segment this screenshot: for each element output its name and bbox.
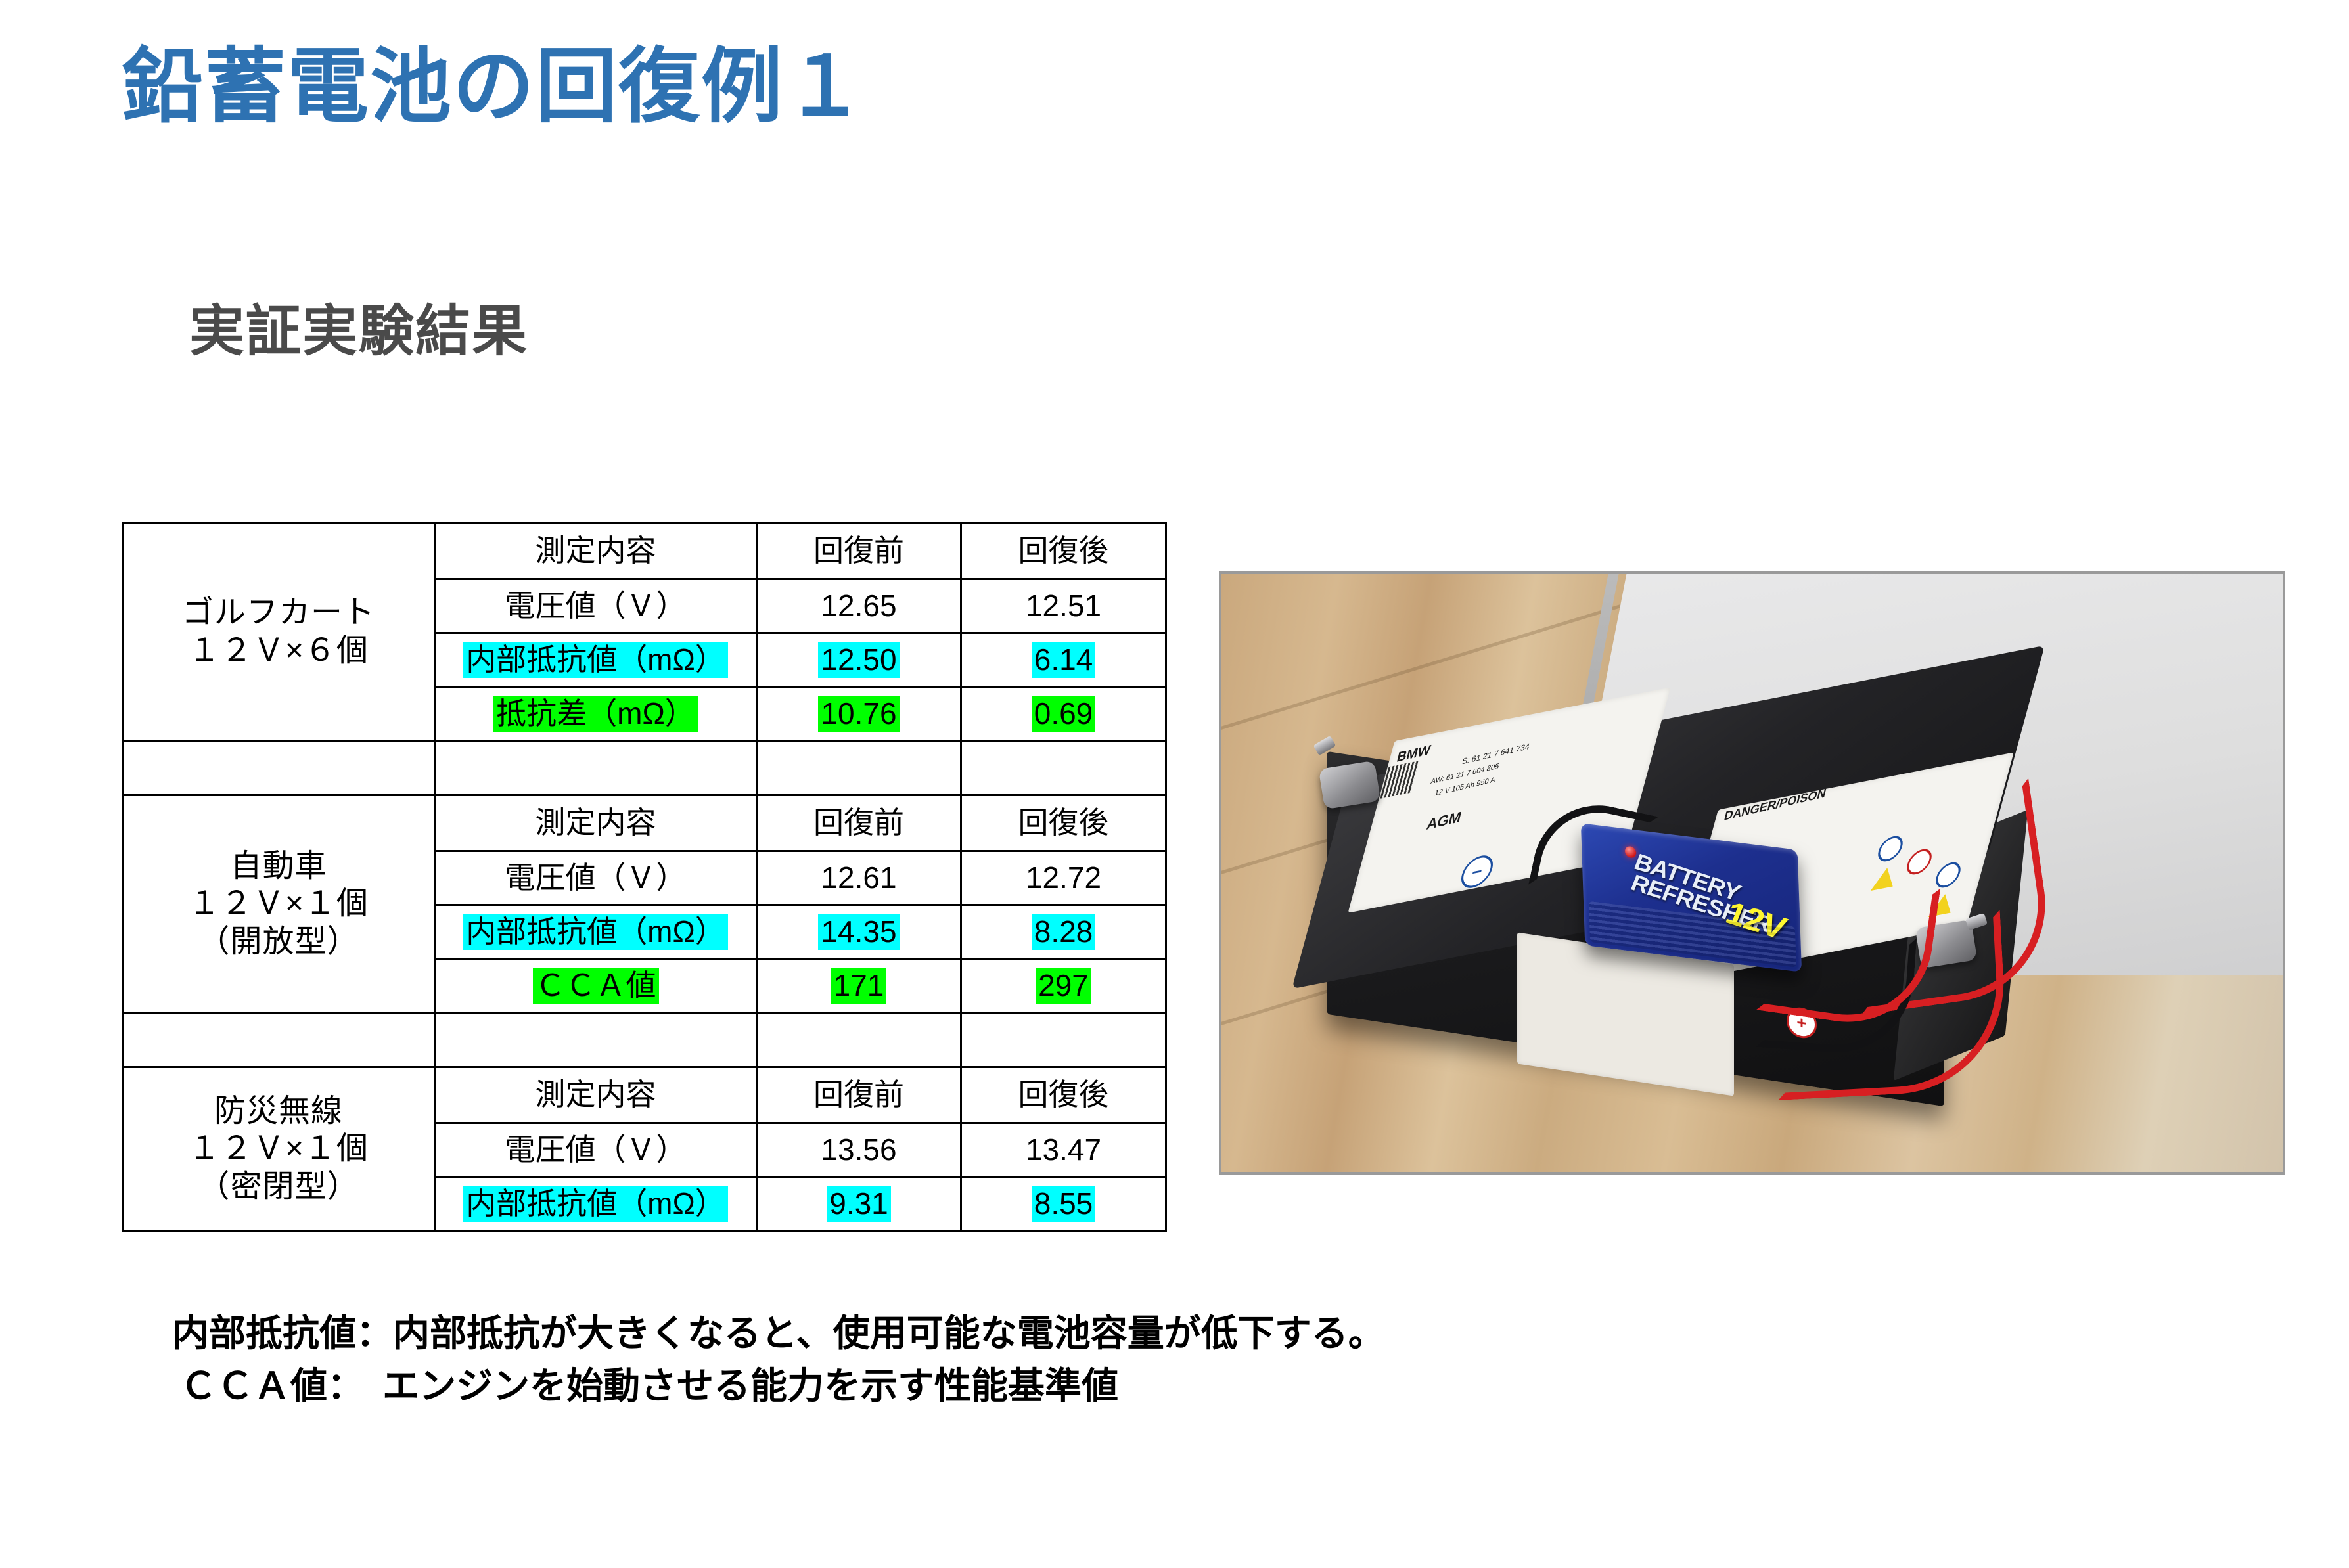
- measure-pre: 171: [757, 959, 961, 1013]
- category-cell-3: 防災無線 １２Ｖ×１個 （密閉型）: [123, 1067, 435, 1231]
- measure-post: 8.28: [961, 905, 1166, 959]
- category-line: （開放型）: [124, 923, 434, 961]
- measure-post: 297: [961, 959, 1166, 1013]
- measure-item: 電圧値（Ｖ）: [435, 1123, 757, 1177]
- measure-post: 12.51: [961, 579, 1166, 633]
- category-line: １２Ｖ×１個: [124, 1130, 434, 1168]
- measure-item: ＣＣＡ値: [435, 959, 757, 1013]
- category-line: （密閉型）: [124, 1168, 434, 1206]
- column-header-item: 測定内容: [435, 795, 757, 851]
- footnotes: 内部抵抗値：内部抵抗が大きくなると、使用可能な電池容量が低下する。 ＣＣＡ値： …: [172, 1307, 1385, 1412]
- table-row: 自動車 １２Ｖ×１個 （開放型） 測定内容 回復前 回復後: [123, 795, 1166, 851]
- measure-pre: 14.35: [757, 905, 961, 959]
- category-cell-2: 自動車 １２Ｖ×１個 （開放型）: [123, 795, 435, 1013]
- measure-post: 6.14: [961, 633, 1166, 687]
- measure-post: 12.72: [961, 851, 1166, 905]
- spacer-cell: [757, 741, 961, 795]
- category-line: 防災無線: [124, 1092, 434, 1131]
- category-line: １２Ｖ×１個: [124, 885, 434, 923]
- lead-acid-battery: BMW S: 61 21 7 641 734 AW: 61 21 7 604 8…: [1300, 640, 2076, 1100]
- section-heading: 実証実験結果: [189, 297, 528, 366]
- column-header-pre: 回復前: [757, 1067, 961, 1123]
- spacer-cell: [435, 741, 757, 795]
- measure-item: 内部抵抗値（mΩ）: [435, 905, 757, 959]
- category-line: 自動車: [124, 847, 434, 885]
- measure-pre: 13.56: [757, 1123, 961, 1177]
- table-spacer-row: [123, 1013, 1166, 1067]
- photo-scene: BMW S: 61 21 7 641 734 AW: 61 21 7 604 8…: [1221, 574, 2283, 1172]
- measure-pre: 12.65: [757, 579, 961, 633]
- column-header-post: 回復後: [961, 524, 1166, 579]
- spacer-cell: [123, 1013, 435, 1067]
- measure-pre: 9.31: [757, 1177, 961, 1231]
- table-row: ゴルフカート １２Ｖ×６個 測定内容 回復前 回復後: [123, 524, 1166, 579]
- spacer-cell: [961, 1013, 1166, 1067]
- power-led-icon: [1625, 845, 1637, 858]
- column-header-post: 回復後: [961, 1067, 1166, 1123]
- spacer-cell: [123, 741, 435, 795]
- category-line: １２Ｖ×６個: [124, 632, 434, 670]
- measure-item: 抵抗差（mΩ）: [435, 687, 757, 741]
- spacer-cell: [757, 1013, 961, 1067]
- column-header-item: 測定内容: [435, 524, 757, 579]
- spacer-cell: [961, 741, 1166, 795]
- negative-terminal-clamp: [1319, 761, 1381, 810]
- column-header-post: 回復後: [961, 795, 1166, 851]
- measure-item: 電圧値（Ｖ）: [435, 851, 757, 905]
- measure-post: 0.69: [961, 687, 1166, 741]
- measure-item: 内部抵抗値（mΩ）: [435, 633, 757, 687]
- column-header-item: 測定内容: [435, 1067, 757, 1123]
- measure-post: 8.55: [961, 1177, 1166, 1231]
- measure-post: 13.47: [961, 1123, 1166, 1177]
- results-table: ゴルフカート １２Ｖ×６個 測定内容 回復前 回復後 電圧値（Ｖ） 12.65 …: [122, 522, 1167, 1232]
- column-header-pre: 回復前: [757, 524, 961, 579]
- measure-item: 内部抵抗値（mΩ）: [435, 1177, 757, 1231]
- page-title: 鉛蓄電池の回復例１: [122, 36, 867, 138]
- measure-pre: 10.76: [757, 687, 961, 741]
- category-cell-1: ゴルフカート １２Ｖ×６個: [123, 524, 435, 741]
- table-spacer-row: [123, 741, 1166, 795]
- device-brand-text: BATTERY REFRESHER: [1630, 850, 1775, 935]
- slide-canvas: 鉛蓄電池の回復例１ 実証実験結果 ゴルフカート １２Ｖ×６個 測定内容 回復前 …: [0, 0, 2349, 1568]
- note-cca: ＣＣＡ値： エンジンを始動させる能力を示す性能基準値: [172, 1360, 1385, 1412]
- category-line: ゴルフカート: [124, 594, 434, 632]
- measure-pre: 12.50: [757, 633, 961, 687]
- measure-pre: 12.61: [757, 851, 961, 905]
- table-row: 防災無線 １２Ｖ×１個 （密閉型） 測定内容 回復前 回復後: [123, 1067, 1166, 1123]
- battery-photo: BMW S: 61 21 7 641 734 AW: 61 21 7 604 8…: [1219, 571, 2285, 1175]
- column-header-pre: 回復前: [757, 795, 961, 851]
- note-internal-resistance: 内部抵抗値：内部抵抗が大きくなると、使用可能な電池容量が低下する。: [172, 1307, 1385, 1360]
- measure-item: 電圧値（Ｖ）: [435, 579, 757, 633]
- spacer-cell: [435, 1013, 757, 1067]
